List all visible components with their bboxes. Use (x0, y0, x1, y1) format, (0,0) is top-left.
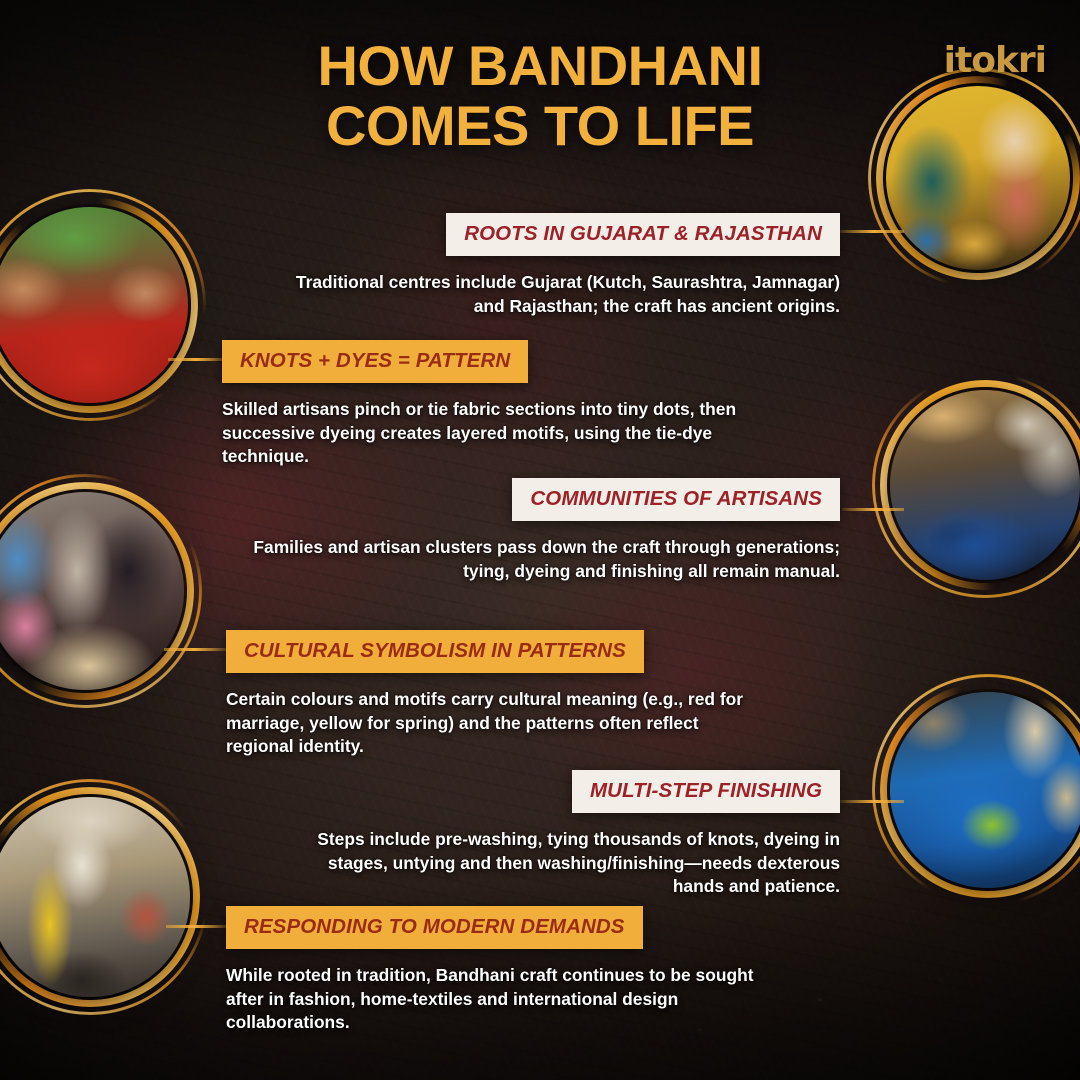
section-communities: COMMUNITIES OF ARTISANS Families and art… (240, 478, 840, 583)
photo-yellow-dye-lift (0, 797, 190, 997)
title-line-1: HOW BANDHANI (317, 34, 762, 97)
brand-logo-text: itokri (944, 40, 1046, 81)
connector-finishing (840, 800, 904, 803)
section-knots-dyes: KNOTS + DYES = PATTERN Skilled artisans … (222, 340, 742, 469)
photo-women-cream-cloth (0, 492, 184, 690)
connector-knots-dyes (168, 358, 230, 361)
section-tag-finishing: MULTI-STEP FINISHING (572, 770, 840, 813)
section-body-roots: Traditional centres include Gujarat (Kut… (280, 271, 840, 318)
section-roots: ROOTS IN GUJARAT & RAJASTHAN Traditional… (280, 213, 840, 318)
title-line-2: COMES TO LIFE (170, 96, 910, 156)
photo-blue-dye-vat (890, 692, 1080, 888)
section-modern-demands: RESPONDING TO MODERN DEMANDS While roote… (226, 906, 786, 1035)
section-tag-knots-dyes: KNOTS + DYES = PATTERN (222, 340, 528, 383)
section-body-finishing: Steps include pre-washing, tying thousan… (300, 828, 840, 899)
connector-communities (842, 508, 904, 511)
infographic-poster: HOW BANDHANI COMES TO LIFE itokri (0, 0, 1080, 1080)
section-body-knots-dyes: Skilled artisans pinch or tie fabric sec… (222, 398, 742, 469)
photo-hands-red-fabric (0, 207, 188, 403)
connector-modern-demands (166, 925, 230, 928)
connector-symbolism (164, 648, 230, 651)
section-body-modern-demands: While rooted in tradition, Bandhani craf… (226, 964, 786, 1035)
section-body-communities: Families and artisan clusters pass down … (240, 536, 840, 583)
connector-roots (838, 230, 904, 233)
section-tag-symbolism: CULTURAL SYMBOLISM IN PATTERNS (226, 630, 644, 673)
page-title: HOW BANDHANI COMES TO LIFE (0, 36, 1080, 156)
section-tag-communities: COMMUNITIES OF ARTISANS (512, 478, 840, 521)
section-symbolism: CULTURAL SYMBOLISM IN PATTERNS Certain c… (226, 630, 766, 759)
section-finishing: MULTI-STEP FINISHING Steps include pre-w… (300, 770, 840, 899)
section-body-symbolism: Certain colours and motifs carry cultura… (226, 688, 766, 759)
photo-dyer-blue-tub (890, 390, 1080, 580)
section-tag-roots: ROOTS IN GUJARAT & RAJASTHAN (446, 213, 840, 256)
section-tag-modern-demands: RESPONDING TO MODERN DEMANDS (226, 906, 643, 949)
brand-logo[interactable]: itokri (944, 40, 1046, 81)
